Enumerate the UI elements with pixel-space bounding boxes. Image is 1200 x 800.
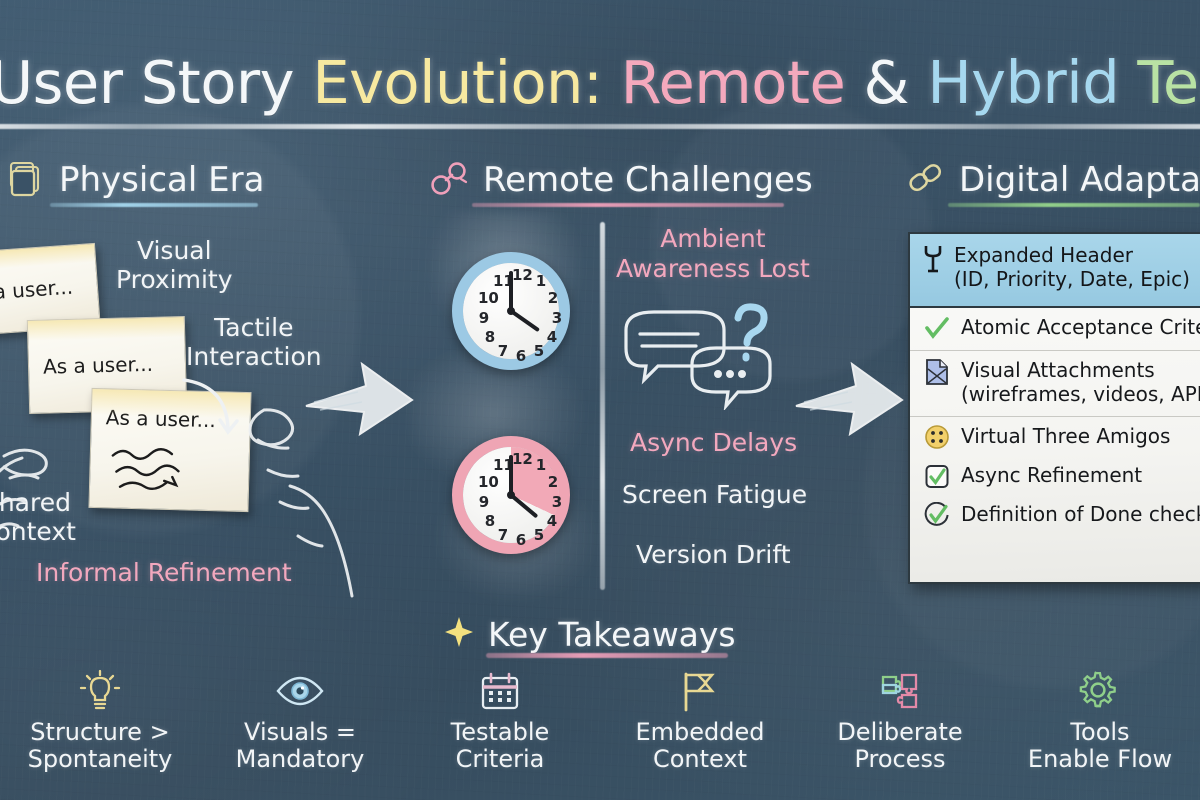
curved-arrow-icon [178,372,258,452]
panel-row-async-refinement: Async Refinement [910,456,1200,495]
panel-row-virtual-three-amigos: Virtual Three Amigos [910,417,1200,456]
key-takeaways-label: Key Takeaways [488,615,736,654]
panel-header-expanded-header: Expanded Header (ID, Priority, Date, Epi… [910,234,1200,308]
clock-number: 12 [512,266,532,284]
panel-row-text: Definition of Done checklist [961,502,1200,526]
label-line-2: Awareness Lost [616,254,810,284]
speech-bubbles-question-icon [614,300,794,410]
three-dots-circle-icon [924,424,950,450]
key-takeaways-underline [486,653,728,658]
clock-number: 2 [543,473,563,491]
label-screen-fatigue: Screen Fatigue [622,480,807,510]
broken-link-icon [428,158,470,202]
label-async-delays: Async Delays [630,428,797,458]
clock-number: 6 [511,531,531,549]
label-line-1: Shared [0,488,76,517]
page-title: User Story Evolution: Remote & Hybrid Te… [0,44,1200,122]
takeaway-line-1: Embedded [635,719,764,746]
takeaway-label: Embedded Context [635,719,764,774]
clock-pink: 12 1 2 3 4 5 6 7 8 9 10 11 [452,436,570,554]
panel-row-line-2: (wireframes, videos, APIs) [961,382,1200,406]
takeaway-line-1: Tools [1028,719,1172,746]
clock-minute-hand [509,455,513,495]
clock-number: 8 [480,512,500,530]
clock-number: 5 [529,342,549,360]
flag-icon [678,668,722,714]
takeaways-row: Structure > Spontaneity Visuals = Mandat… [0,668,1200,796]
label-line-1: Ambient [616,224,810,254]
label-shared-context: Shared Context [0,488,76,546]
label-line-2: Context [0,517,76,546]
sparkle-icon [442,615,476,653]
panel-row-text: Async Refinement [961,463,1142,487]
label-ambient-awareness-lost: Ambient Awareness Lost [616,224,810,284]
clock-number: 1 [531,456,551,474]
clock-number: 12 [512,450,532,468]
title-underline [0,124,1200,129]
title-part-hybrid: Hybrid [927,48,1119,117]
checkbox-checked-icon [924,463,950,489]
takeaway-label: Deliberate Process [837,719,962,774]
takeaway-label: Tools Enable Flow [1028,719,1172,774]
takeaway-label: Structure > Spontaneity [28,719,173,774]
clock-center-pin [507,491,515,499]
clock-number: 10 [478,473,498,491]
title-part-ampersand: & [864,48,910,117]
puzzle-pieces-icon [878,668,922,714]
column-header-label: Remote Challenges [483,160,813,200]
takeaway-testable-criteria: Testable Criteria [400,668,600,796]
takeaway-line-1: Deliberate [837,719,962,746]
vertical-divider [600,222,605,590]
takeaway-structure-spontaneity: Structure > Spontaneity [0,668,200,796]
arrow-physical-to-remote-icon [300,350,420,450]
panel-row-line-1: Visual Attachments [961,358,1200,382]
key-takeaways-header: Key Takeaways [442,612,736,656]
takeaway-line-2: Criteria [451,746,550,773]
clock-minute-hand [509,271,513,311]
column-underline-digital [948,203,1200,207]
column-header-label: Physical Era [59,160,264,200]
label-informal-refinement: Informal Refinement [36,558,292,587]
lightbulb-icon [78,668,122,714]
panel-row-text: Visual Attachments (wireframes, videos, … [961,358,1200,406]
takeaway-embedded-context: Embedded Context [600,668,800,796]
label-line-1: Visual [116,236,233,265]
column-header-remote-challenges: Remote Challenges [428,156,813,204]
check-mark-icon [924,315,950,341]
label-visual-proximity: Visual Proximity [116,236,233,294]
label-line-1: Tactile [186,313,322,342]
column-header-digital-adaptation: Digital Adaptation [904,156,1200,204]
clock-number: 3 [547,493,567,511]
panel-row-definition-of-done: Definition of Done checklist [910,495,1200,534]
clock-number: 9 [474,309,494,327]
clock-number: 3 [547,309,567,327]
chalkboard-canvas: User Story Evolution: Remote & Hybrid Te… [0,0,1200,800]
clock-number: 1 [531,272,551,290]
clock-number: 8 [480,328,500,346]
takeaway-label: Testable Criteria [451,719,550,774]
title-part-evolution: Evolution: [312,48,602,117]
panel-header-line-2: (ID, Priority, Date, Epic) [954,267,1190,291]
clock-number: 2 [543,289,563,307]
takeaway-line-2: Mandatory [236,746,365,773]
arrow-remote-to-digital-icon [790,350,910,450]
column-header-label: Digital Adaptation [959,160,1200,200]
label-line-2: Proximity [116,265,233,294]
clock-number: 9 [474,493,494,511]
stacked-cards-icon [6,158,46,202]
title-part-user-story: User Story [0,48,294,117]
column-underline-remote [472,203,784,207]
circled-check-icon [924,502,950,528]
takeaway-line-1: Structure > [28,719,173,746]
takeaway-line-1: Testable [451,719,550,746]
pin-marker-icon [922,243,944,277]
eye-icon [275,668,325,714]
panel-row-visual-attachments: Visual Attachments (wireframes, videos, … [910,351,1200,417]
takeaway-tools-enable-flow: Tools Enable Flow [1000,668,1200,796]
takeaway-visuals-mandatory: Visuals = Mandatory [200,668,400,796]
panel-row-text: Atomic Acceptance Criteria [961,315,1200,339]
takeaway-line-2: Spontaneity [28,746,173,773]
takeaway-line-2: Context [635,746,764,773]
panel-header-line-1: Expanded Header [954,243,1190,267]
takeaway-line-2: Enable Flow [1028,746,1172,773]
clock-number: 10 [478,289,498,307]
gear-icon [1078,668,1122,714]
column-header-physical-era: Physical Era [6,156,264,204]
image-file-icon [924,358,950,384]
clock-number: 5 [529,526,549,544]
title-part-remote: Remote [621,48,846,117]
label-version-drift: Version Drift [636,540,791,570]
takeaway-label: Visuals = Mandatory [236,719,365,774]
takeaway-line-1: Visuals = [236,719,365,746]
title-part-teams: Teams [1137,48,1200,117]
panel-row-atomic-acceptance-criteria: Atomic Acceptance Criteria [910,308,1200,351]
user-story-card-text: As a user... [0,275,74,308]
takeaway-deliberate-process: Deliberate Process [800,668,1000,796]
digital-story-template-panel: Expanded Header (ID, Priority, Date, Epi… [908,232,1200,584]
panel-row-text: Virtual Three Amigos [961,424,1170,448]
clock-blue: 12 1 2 3 4 5 6 7 8 9 10 11 [452,252,570,370]
clock-center-pin [507,307,515,315]
panel-header-text: Expanded Header (ID, Priority, Date, Epi… [954,243,1190,292]
clock-number: 6 [511,347,531,365]
chain-link-icon [904,158,946,202]
calendar-icon [479,668,521,714]
takeaway-line-2: Process [837,746,962,773]
column-underline-physical [50,203,258,207]
